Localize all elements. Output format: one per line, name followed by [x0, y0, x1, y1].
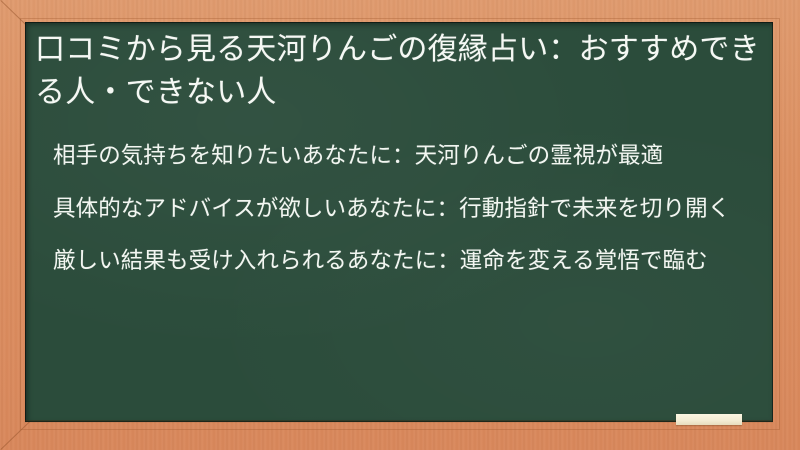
- bullet-list: 相手の気持ちを知りたいあなたに：天河りんごの霊視が最適 具体的なアドバイスが欲し…: [53, 140, 753, 278]
- list-item: 厳しい結果も受け入れられるあなたに：運命を変える覚悟で臨む: [53, 245, 753, 278]
- list-item: 相手の気持ちを知りたいあなたに：天河りんごの霊視が最適: [53, 140, 753, 173]
- slide-canvas: 口コミから見る天河りんごの復縁占い：おすすめできる人・できない人 相手の気持ちを…: [0, 0, 800, 450]
- slide-content: 口コミから見る天河りんごの復縁占い：おすすめできる人・できない人 相手の気持ちを…: [25, 22, 773, 422]
- list-item: 具体的なアドバイスが欲しいあなたに：行動指針で未来を切り開く: [53, 193, 753, 226]
- frame-corner-seam-bottom-left: [0, 420, 31, 450]
- slide-title: 口コミから見る天河りんごの復縁占い：おすすめできる人・できない人: [35, 29, 761, 114]
